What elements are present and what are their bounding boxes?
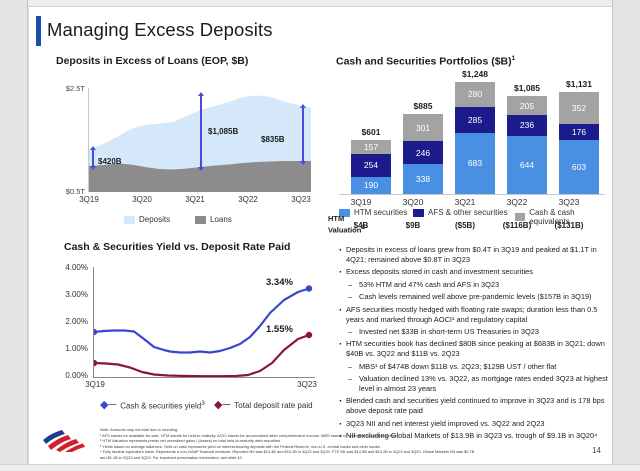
chart2-plot-area: $601157254190 $885301246338 $1,248280285… (341, 77, 603, 194)
annotation-arrow-4q21 (200, 96, 202, 167)
chart1-ytick-top: $2.5T (43, 84, 85, 93)
chart2-legend-afs: AFS & other securities (413, 208, 508, 217)
htm-valuation-3q20: $9B (383, 221, 443, 230)
chart1-xtick-3: 3Q22 (228, 195, 268, 204)
cash-securities-yield-line (94, 289, 309, 353)
legend-marker-rate: ◆─ (214, 400, 230, 411)
bar-segment-3q23-cash: 352 (559, 92, 599, 124)
legend-marker-yield: ◆─ (100, 400, 116, 411)
page-number: 14 (592, 446, 601, 455)
bar-segment-3q19-htm: 190 (351, 177, 391, 194)
bullet-5: Invested net $33B in short-term US Treas… (348, 327, 609, 337)
legend-swatch-deposits (124, 216, 135, 224)
bullet-8: Valuation declined 13% vs. 3Q22, as mort… (348, 374, 609, 394)
annotation-label-4q21: $1,085B (208, 127, 238, 136)
chart2-title: Cash and Securities Portfolios ($B)1 (336, 55, 515, 68)
bar-3q22: $1,085205236644 (507, 96, 547, 194)
viewer-right-margin (612, 0, 640, 471)
bar-total-3q19: $601 (341, 127, 401, 137)
bar-segment-3q21-afs: 285 (455, 107, 495, 133)
legend-label-rate: Total deposit rate paid (234, 401, 312, 410)
bar-total-3q22: $1,085 (497, 83, 557, 93)
document-viewer: Managing Excess Deposits Deposits in Exc… (0, 0, 640, 471)
htm-valuation-3q19: $4B (331, 221, 391, 230)
chart-cash-and-securities-portfolios: Cash and Securities Portfolios ($B)1 $60… (331, 55, 611, 235)
bar-3q20: $885301246338 (403, 114, 443, 194)
footnote-5: and $1.1B in 3Q23 and 3Q20. For importan… (100, 455, 580, 461)
slide-page: Managing Excess Deposits Deposits in Exc… (29, 7, 612, 464)
bar-segment-3q21-cash: 280 (455, 82, 495, 107)
legend-swatch-loans (195, 216, 206, 224)
chart3-ytick-4: 0.00% (42, 371, 88, 380)
bullet-7: MBS¹ of $474B down $11B vs. 2Q23; $129B … (348, 362, 609, 372)
htm-valuation-3q22: ($116B) (487, 221, 547, 230)
legend-label-yield: Cash & securities yield3 (120, 400, 205, 411)
legend-label-loans: Loans (210, 215, 232, 224)
bar-segment-3q20-cash: 301 (403, 114, 443, 141)
chart3-title: Cash & Securities Yield vs. Deposit Rate… (64, 241, 290, 253)
bar-total-3q21: $1,248 (445, 69, 505, 79)
bar-segment-3q19-cash: 157 (351, 140, 391, 154)
page-title: Managing Excess Deposits (47, 19, 273, 41)
chart3-ytick-2: 2.00% (42, 317, 88, 326)
legend-label-afs-securities: AFS & other securities (428, 208, 508, 217)
chart3-legend-yield: ◆─ Cash & securities yield3 (100, 400, 205, 411)
viewer-left-margin (0, 0, 28, 471)
chart2-xtick-4: 3Q23 (539, 197, 599, 207)
chart1-legend-deposits: Deposits (124, 215, 170, 224)
total-deposit-rate-line (94, 335, 309, 376)
bullet-4: AFS securities mostly hedged with floati… (337, 305, 609, 325)
bar-3q21: $1,248280285683 (455, 82, 495, 194)
chart3-ytick-3: 1.00% (42, 344, 88, 353)
chart-deposits-in-excess-of-loans: Deposits in Excess of Loans (EOP, $B) $2… (42, 55, 332, 227)
bar-segment-3q20-htm: 338 (403, 164, 443, 194)
annotation-arrow-3q19 (92, 150, 94, 166)
footnotes: Note: Amounts may not total due to round… (100, 427, 580, 460)
bullet-6: HTM securities book has declined $80B si… (337, 339, 609, 359)
chart3-xtick-1: 3Q23 (287, 380, 327, 389)
bullet-9: Blended cash and securities yield contin… (337, 396, 609, 416)
viewer-bottom-bar (0, 464, 640, 471)
chart3-legend-rate: ◆─ Total deposit rate paid (214, 400, 313, 411)
rate-end-marker (306, 332, 312, 338)
bank-of-america-flag-logo (41, 426, 87, 452)
chart3-endlabel-yield: 3.34% (266, 277, 293, 288)
chart1-xtick-0: 3Q19 (69, 195, 109, 204)
chart3-xtick-0: 3Q19 (75, 380, 115, 389)
htm-valuation-3q21: ($5B) (435, 221, 495, 230)
chart2-xtick-2: 3Q21 (435, 197, 495, 207)
bar-3q23: $1,131352176603 (559, 92, 599, 194)
chart-yield-vs-deposit-rate: Cash & Securities Yield vs. Deposit Rate… (42, 239, 342, 419)
bar-segment-3q23-htm: 603 (559, 140, 599, 194)
chart1-xtick-1: 3Q20 (122, 195, 162, 204)
chart2-xtick-3: 3Q22 (487, 197, 547, 207)
annotation-label-3q23: $835B (261, 135, 285, 144)
chart1-title: Deposits in Excess of Loans (EOP, $B) (56, 55, 248, 67)
chart2-baseline (339, 194, 605, 195)
chart3-endlabel-rate: 1.55% (266, 324, 293, 335)
chart2-xtick-1: 3Q20 (383, 197, 443, 207)
yield-start-marker (94, 329, 97, 335)
legend-label-deposits: Deposits (139, 215, 170, 224)
bullet-0: Deposits in excess of loans grew from $0… (337, 245, 609, 265)
chart3-ytick-0: 4.00% (42, 263, 88, 272)
chart1-xtick-2: 3Q21 (175, 195, 215, 204)
rate-start-marker (94, 360, 97, 366)
bar-3q19: $601157254190 (351, 140, 391, 194)
legend-swatch-afs-securities (413, 209, 424, 217)
chart2-title-superscript: 1 (512, 55, 516, 62)
chart2-title-text: Cash and Securities Portfolios ($B) (336, 56, 512, 68)
bullet-1: Excess deposits stored in cash and inves… (337, 267, 609, 277)
chart3-x-axis (93, 377, 315, 378)
bullet-3: Cash levels remained well above pre-pand… (348, 292, 609, 302)
bar-segment-3q23-afs: 176 (559, 124, 599, 140)
legend-swatch-cash-equivalents (515, 213, 525, 221)
bar-total-3q23: $1,131 (549, 79, 609, 89)
commentary-bullet-list: Deposits in excess of loans grew from $0… (337, 245, 609, 444)
bar-segment-3q20-afs: 246 (403, 141, 443, 163)
title-accent-bar (36, 16, 41, 46)
bar-segment-3q19-afs: 254 (351, 154, 391, 177)
annotation-label-3q19: $420B (98, 157, 122, 166)
yield-end-marker (306, 285, 312, 291)
chart1-legend-loans: Loans (195, 215, 232, 224)
bar-segment-3q22-afs: 236 (507, 115, 547, 136)
bar-total-3q20: $885 (393, 101, 453, 111)
annotation-arrow-3q23 (302, 108, 304, 161)
bar-segment-3q22-cash: 205 (507, 96, 547, 114)
chart3-ytick-1: 3.00% (42, 290, 88, 299)
chart2-xtick-0: 3Q19 (331, 197, 391, 207)
chart1-xtick-4: 3Q23 (281, 195, 321, 204)
chart1-plot-area: $420B $1,085B $835B (89, 88, 311, 192)
bar-segment-3q22-htm: 644 (507, 136, 547, 194)
bar-segment-3q21-htm: 683 (455, 133, 495, 194)
bullet-2: 53% HTM and 47% cash and AFS in 3Q23 (348, 280, 609, 290)
htm-valuation-3q23: ($131B) (539, 221, 599, 230)
viewer-top-bar (0, 0, 640, 7)
